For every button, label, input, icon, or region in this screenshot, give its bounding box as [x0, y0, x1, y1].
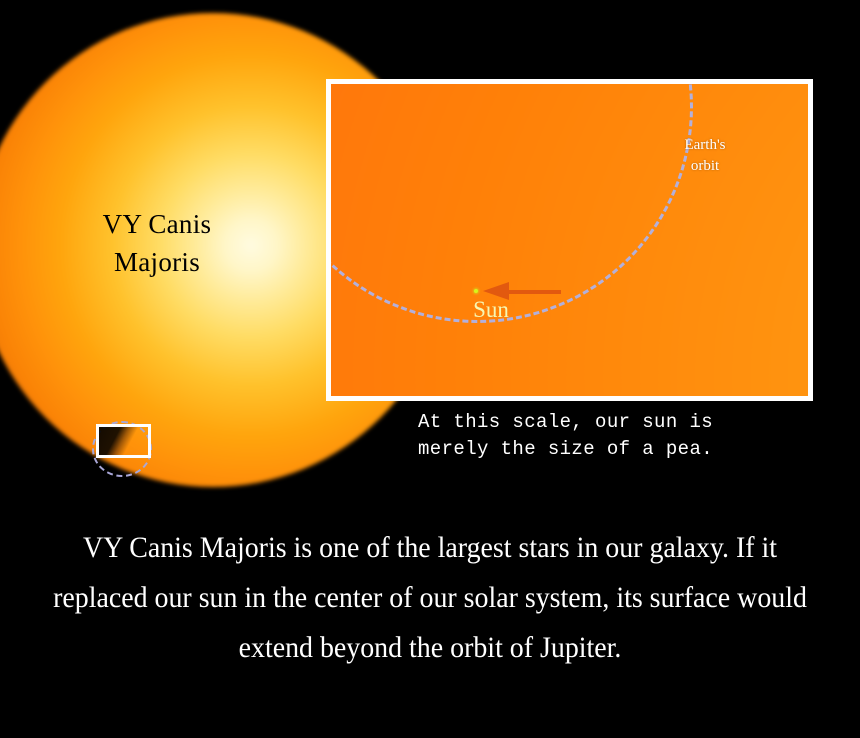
magnified-inset-panel: Earth's orbit Sun: [326, 79, 813, 401]
vy-canis-majoris-poster: VY Canis Majoris Earth's orbit Sun At th…: [0, 0, 860, 738]
star-name-line-2: Majoris: [62, 243, 252, 281]
description-paragraph: VY Canis Majoris is one of the largest s…: [47, 523, 813, 673]
arrow-shaft: [505, 290, 561, 294]
sun-label: Sun: [451, 297, 531, 323]
earth-orbit-label-line-2: orbit: [655, 156, 755, 177]
scale-caption: At this scale, our sun is merely the siz…: [418, 409, 818, 463]
inset-clip: Earth's orbit Sun: [331, 84, 808, 396]
callout-region-box: [96, 424, 151, 458]
sun-pointer-arrow-icon: [483, 287, 561, 296]
earth-orbit-label: Earth's orbit: [655, 135, 755, 177]
star-name-line-1: VY Canis: [62, 205, 252, 243]
sun-dot: [474, 289, 478, 293]
earth-orbit-label-line-1: Earth's: [655, 135, 755, 156]
star-name-label: VY Canis Majoris: [62, 205, 252, 281]
